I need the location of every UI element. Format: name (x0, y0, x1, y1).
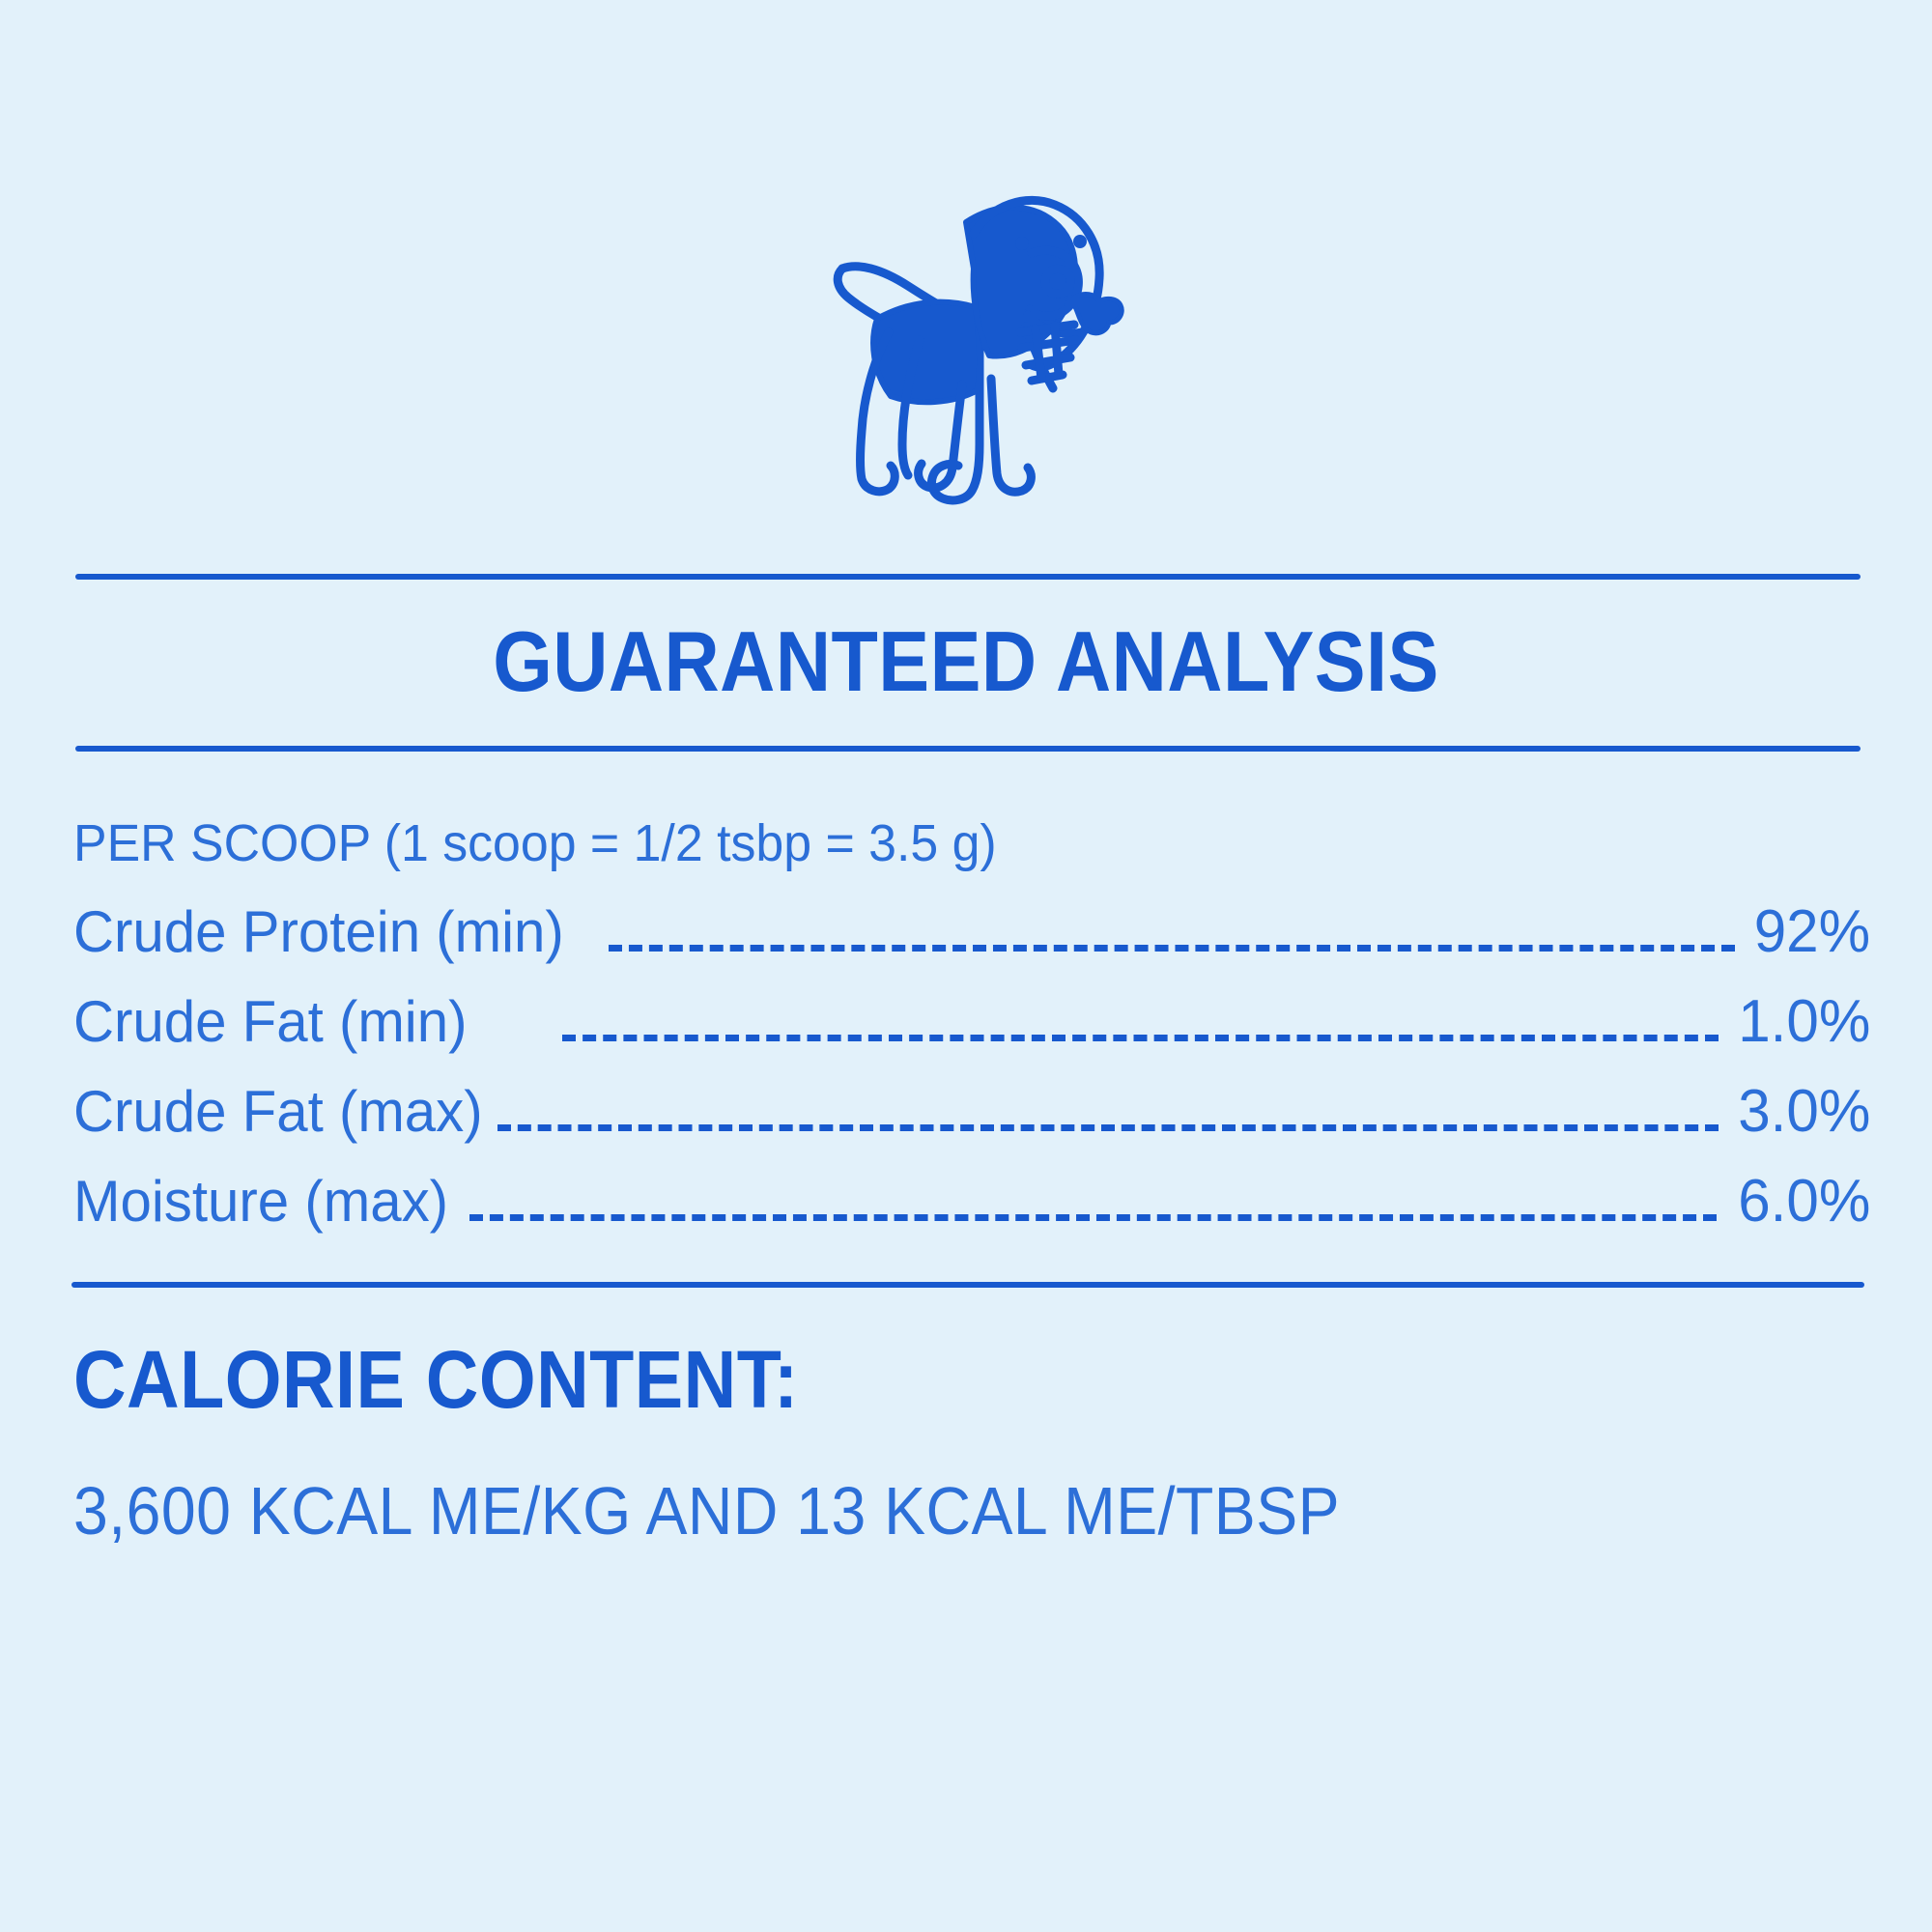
dog-with-bone-icon (773, 126, 1159, 512)
dot-leader (497, 1130, 1719, 1131)
brand-logo (0, 116, 1932, 522)
table-row: Moisture (max) 6.0% (73, 1168, 1870, 1258)
page-title: GUARANTEED ANALYSIS (97, 609, 1835, 715)
divider-above-title (75, 574, 1861, 580)
table-row: Crude Protein (min) 92% (73, 898, 1870, 988)
guaranteed-analysis-table: Crude Protein (min) 92% Crude Fat (min) … (73, 898, 1870, 1258)
dot-leader (609, 951, 1735, 952)
dot-leader (469, 1220, 1717, 1221)
serving-size-note: PER SCOOP (1 scoop = 1/2 tsbp = 3.5 g) (73, 813, 997, 873)
calorie-content-title: CALORIE CONTENT: (73, 1331, 799, 1428)
table-row: Crude Fat (max) 3.0% (73, 1078, 1870, 1168)
guaranteed-analysis-panel: GUARANTEED ANALYSIS PER SCOOP (1 scoop =… (0, 0, 1932, 1932)
nutrient-value: 6.0% (1738, 1168, 1870, 1236)
divider-below-table (71, 1282, 1864, 1288)
nutrient-label: Crude Fat (max) (73, 1078, 483, 1146)
nutrient-label: Crude Protein (min) (73, 898, 564, 966)
divider-below-title (75, 746, 1861, 752)
calorie-content-value: 3,600 KCAL ME/KG AND 13 KCAL ME/TBSP (73, 1470, 1340, 1551)
nutrient-label: Crude Fat (min) (73, 988, 467, 1056)
nutrient-value: 92% (1754, 898, 1870, 966)
nutrient-value: 3.0% (1738, 1078, 1870, 1146)
dot-leader (562, 1040, 1719, 1041)
table-row: Crude Fat (min) 1.0% (73, 988, 1870, 1078)
nutrient-label: Moisture (max) (73, 1168, 448, 1236)
nutrient-value: 1.0% (1738, 988, 1870, 1056)
